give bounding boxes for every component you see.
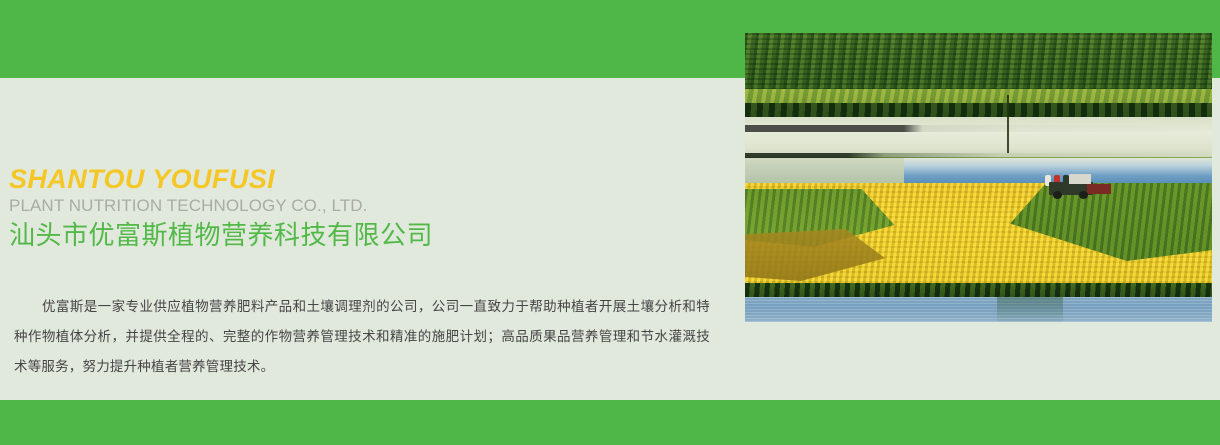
photo-water-reflection xyxy=(997,297,1062,322)
brand-name-english: SHANTOU YOUFUSI xyxy=(9,166,275,193)
photo-harvester xyxy=(1039,173,1113,199)
ricefield-photo: 航拍稻田与河道，收割机在金色稻田中作业 xyxy=(745,33,1212,322)
photo-utility-pole xyxy=(1007,95,1009,153)
company-description-paragraph: 优富斯是一家专业供应植物营养肥料产品和土壤调理剂的公司，公司一直致力于帮助种植者… xyxy=(14,292,710,382)
photo-harvester-cab xyxy=(1069,174,1091,184)
company-intro-block: SHANTOU YOUFUSI PLANT NUTRITION TECHNOLO… xyxy=(0,0,745,445)
photo-pale-paddy-layer xyxy=(745,117,1212,157)
company-profile-banner: SHANTOU YOUFUSI PLANT NUTRITION TECHNOLO… xyxy=(0,0,1220,445)
photo-dark-streak-layer xyxy=(745,125,1212,132)
photo-harvester-wheel-rear xyxy=(1079,191,1088,199)
brand-descriptor-english: PLANT NUTRITION TECHNOLOGY CO., LTD. xyxy=(9,197,367,214)
photo-harvester-wheel-front xyxy=(1053,191,1062,199)
photo-foreground-water-layer xyxy=(745,297,1212,322)
brand-name-chinese: 汕头市优富斯植物营养科技有限公司 xyxy=(9,220,433,251)
photo-treeline-layer xyxy=(745,33,1212,95)
photo-harvester-trailer xyxy=(1087,184,1111,194)
